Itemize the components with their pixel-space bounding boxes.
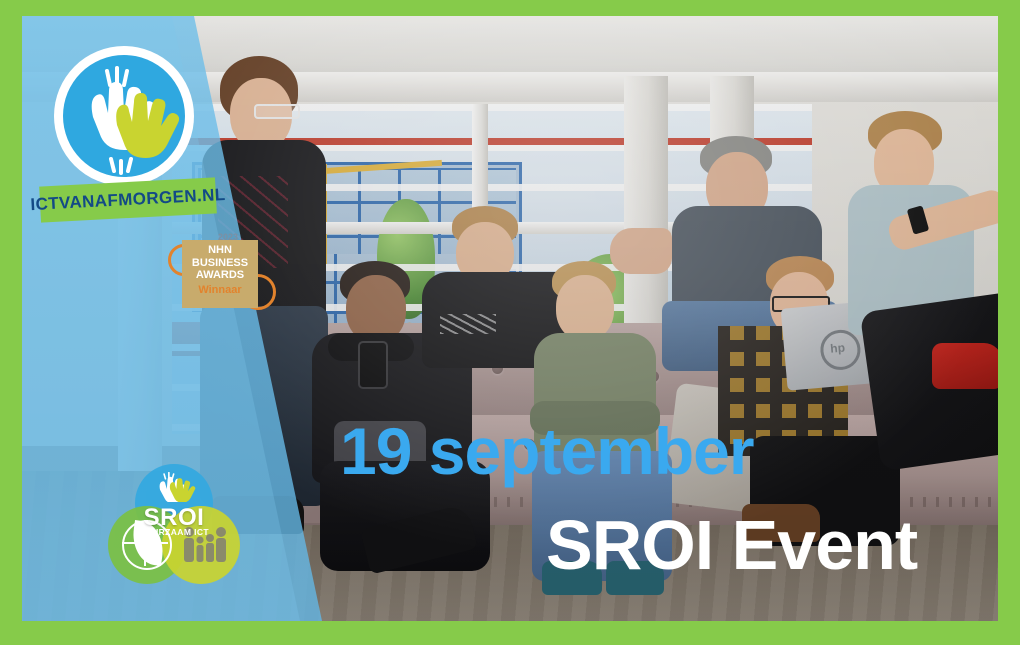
award-line-2: BUSINESS: [182, 257, 258, 270]
event-photo: hp: [22, 16, 998, 621]
award-status: Winnaar: [182, 284, 258, 296]
clapping-hands-icon: [154, 472, 196, 502]
event-date: 19 september: [340, 418, 754, 484]
clapping-hands-icon: [63, 55, 185, 177]
award-line-3: AWARDS: [182, 269, 258, 282]
sroi-event-banner: hp: [0, 0, 1020, 645]
phone-icon: [358, 341, 388, 389]
person-right: [840, 111, 998, 451]
glasses-icon: [254, 104, 300, 119]
logo-disc: [63, 55, 185, 177]
logo-wordmark: ICTVANAFMORGEN.NL: [30, 185, 226, 215]
award-line-1: NHN: [182, 240, 258, 257]
ictvanafmorgen-logo: [54, 46, 194, 186]
sroi-subtitle: DUURZAAM ICT: [108, 527, 240, 537]
event-title: SROI Event: [546, 510, 917, 580]
nhn-business-awards-badge: NHN BUSINESS AWARDS Winnaar: [182, 240, 258, 308]
sroi-duurzaam-ict-logo: SROI DUURZAAM ICT: [108, 464, 240, 582]
